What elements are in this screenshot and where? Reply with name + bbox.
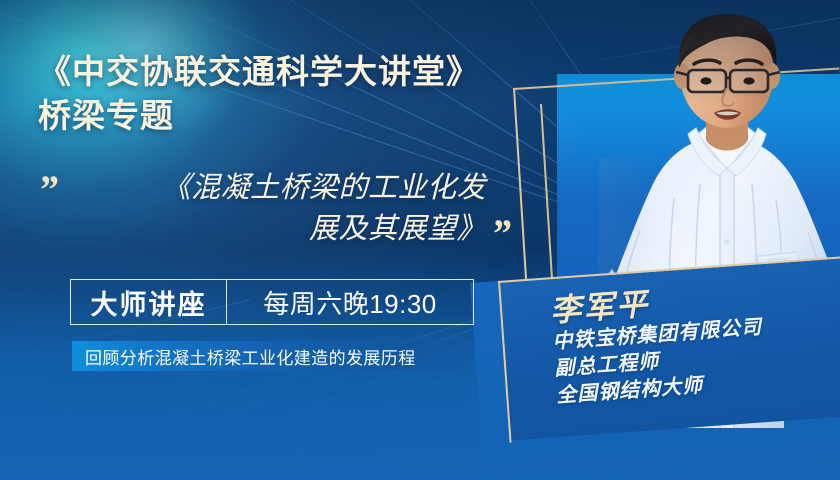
poster-root: 《中交协联交通科学大讲堂》 桥梁专题 ” ” 《混凝土桥梁的工业化发 展及其展望… xyxy=(0,0,840,480)
lecture-info-box: 大师讲座 每周六晚19:30 xyxy=(70,279,474,325)
quote-close-icon: ” xyxy=(491,214,511,254)
topic-line-2: 展及其展望》 xyxy=(88,209,486,250)
page-title: 《中交协联交通科学大讲堂》 桥梁专题 xyxy=(38,50,558,137)
speaker-info-text: 李军平 中铁宝桥集团有限公司 副总工程师 全国钢结构大师 xyxy=(549,272,840,411)
title-line-1: 《中交协联交通科学大讲堂》 xyxy=(38,53,480,90)
speaker-info-card: 李军平 中铁宝桥集团有限公司 副总工程师 全国钢结构大师 xyxy=(498,256,840,440)
topic-line-1: 《混凝土桥梁的工业化发 xyxy=(88,168,486,209)
lecture-description-text: 回顾分析混凝土桥梁工业化建造的发展历程 xyxy=(85,344,416,369)
quote-open-icon: ” xyxy=(38,170,58,210)
lecture-topic: 《混凝土桥梁的工业化发 展及其展望》 xyxy=(36,168,526,250)
title-line-2: 桥梁专题 xyxy=(38,94,558,138)
lecture-description-banner: 回顾分析混凝土桥梁工业化建造的发展历程 xyxy=(72,341,472,371)
lecture-series-label: 大师讲座 xyxy=(71,280,227,324)
lecture-topic-block: ” ” 《混凝土桥梁的工业化发 展及其展望》 xyxy=(36,168,526,250)
lecture-schedule: 每周六晚19:30 xyxy=(227,280,473,324)
